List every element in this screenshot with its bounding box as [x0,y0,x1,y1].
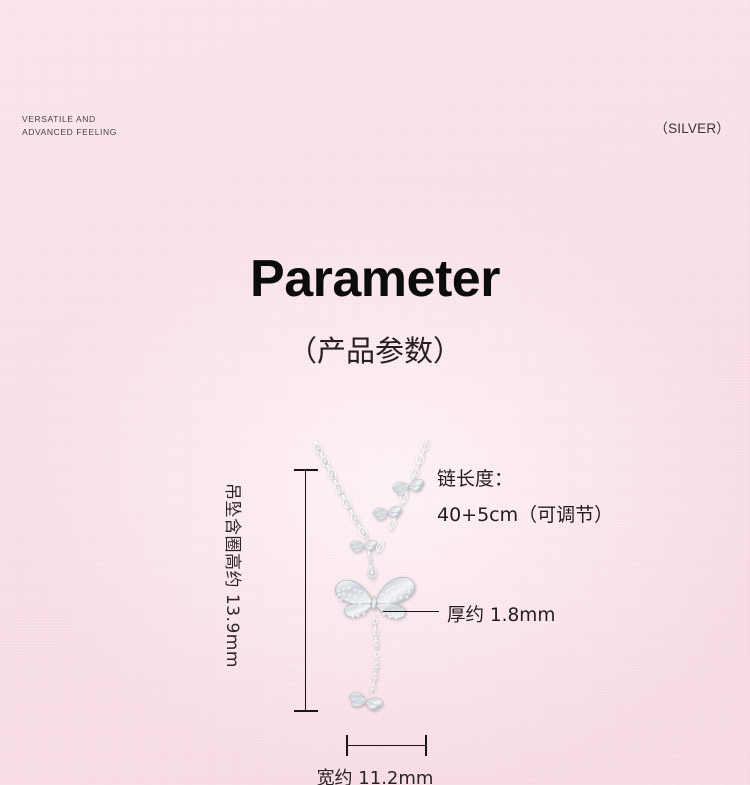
main-butterfly-pendant [335,577,414,619]
width-dimension-axis [347,745,427,746]
page-title: Parameter [0,249,750,309]
chain-length-label: 链长度： [437,461,613,497]
height-dimension-cap-bottom [294,710,318,712]
thickness-label: 厚约 1.8mm [447,601,555,627]
width-dimension-label: 宽约 11.2mm [0,764,750,785]
width-dimension-cap-right [425,735,427,756]
butterfly-charm-upper [392,477,425,496]
page-subtitle: （产品参数） [0,328,750,370]
eyebrow-tagline: VERSATILE AND ADVANCED FEELING [22,113,117,139]
material-tag: （SILVER） [654,117,730,137]
butterfly-charm-terminal [348,691,384,713]
butterfly-charm-middle [373,505,403,521]
height-dimension-label: 吊坠含圈高约 13.9mm [222,483,247,698]
butterfly-charm-lower [350,539,378,552]
thickness-leader-line [383,611,439,612]
product-parameter-page: VERSATILE AND ADVANCED FEELING （SILVER） … [0,0,750,785]
chain-length-callout: 链长度： 40+5cm（可调节） [437,461,613,533]
height-dimension-axis [305,470,306,711]
chain-length-value: 40+5cm（可调节） [437,497,613,533]
height-dimension-cap-top [294,469,318,471]
width-dimension-cap-left [346,735,348,756]
